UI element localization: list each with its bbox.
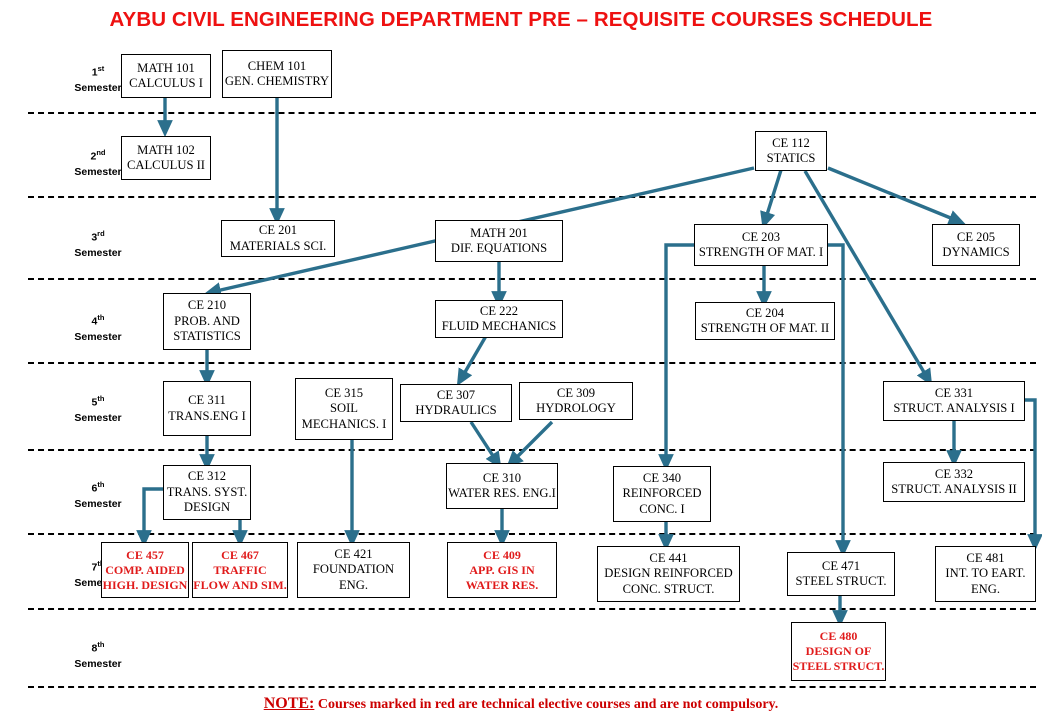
course-code: CE 441 — [649, 551, 687, 567]
course-name-2: CONC. I — [639, 502, 684, 518]
course-code: CE 204 — [746, 306, 784, 322]
course-name: FOUNDATION — [313, 562, 394, 578]
course-name: STATICS — [767, 151, 816, 167]
course-code: MATH 201 — [470, 226, 528, 242]
course-name: STRENGTH OF MAT. I — [699, 245, 823, 261]
course-box-ce-481[interactable]: CE 481 INT. TO EART. ENG. — [935, 546, 1036, 602]
course-name: CALCULUS I — [129, 76, 203, 92]
course-code: CE 205 — [957, 230, 995, 246]
course-code: CE 309 — [557, 386, 595, 402]
course-name: DESIGN REINFORCED — [604, 566, 732, 582]
course-code: CE 331 — [935, 386, 973, 402]
course-code: CE 467 — [221, 548, 259, 563]
course-box-ce-441[interactable]: CE 441 DESIGN REINFORCED CONC. STRUCT. — [597, 546, 740, 602]
course-code: CE 457 — [126, 548, 164, 563]
course-name-2: FLOW AND SIM. — [193, 578, 286, 593]
course-box-ce-467[interactable]: CE 467 TRAFFIC FLOW AND SIM. — [192, 542, 288, 598]
course-box-ce-315[interactable]: CE 315 SOIL MECHANICS. I — [295, 378, 393, 440]
course-name: INT. TO EART. — [945, 566, 1025, 582]
course-code: CE 409 — [483, 548, 521, 563]
course-code: CE 112 — [772, 136, 810, 152]
course-name: HYDRAULICS — [415, 403, 496, 419]
course-code: CE 471 — [822, 559, 860, 575]
course-box-ce-307[interactable]: CE 307 HYDRAULICS — [400, 384, 512, 422]
course-box-ce-222[interactable]: CE 222 FLUID MECHANICS — [435, 300, 563, 338]
course-name: COMP. AIDED — [105, 563, 185, 578]
course-box-ce-340[interactable]: CE 340 REINFORCED CONC. I — [613, 466, 711, 522]
course-box-math-101[interactable]: MATH 101 CALCULUS I — [121, 54, 211, 98]
course-name: HYDROLOGY — [536, 401, 616, 417]
course-name: DYNAMICS — [942, 245, 1009, 261]
course-name: CALCULUS II — [127, 158, 205, 174]
course-code: CE 222 — [480, 304, 518, 320]
course-name: STEEL STRUCT. — [796, 574, 887, 590]
course-name: REINFORCED — [622, 486, 701, 502]
course-name: DIF. EQUATIONS — [451, 241, 547, 257]
course-box-ce-311[interactable]: CE 311 TRANS.ENG I — [163, 381, 251, 436]
course-code: CE 310 — [483, 471, 521, 487]
course-box-ce-331[interactable]: CE 331 STRUCT. ANALYSIS I — [883, 381, 1025, 421]
course-name: GEN. CHEMISTRY — [225, 74, 329, 90]
course-name: TRANS. SYST. — [167, 485, 248, 501]
course-name-2: WATER RES. — [466, 578, 538, 593]
course-name: SOIL — [330, 401, 358, 417]
course-code: CE 481 — [966, 551, 1004, 567]
course-name: APP. GIS IN — [469, 563, 534, 578]
course-box-ce-112[interactable]: CE 112 STATICS — [755, 131, 827, 171]
course-name: STRENGTH OF MAT. II — [701, 321, 830, 337]
course-code: CE 332 — [935, 467, 973, 483]
course-name: TRANS.ENG I — [168, 409, 246, 425]
course-name: STRUCT. ANALYSIS I — [893, 401, 1014, 417]
course-box-ce-421[interactable]: CE 421 FOUNDATION ENG. — [297, 542, 410, 598]
course-name-2: DESIGN — [184, 500, 230, 516]
prerequisite-connectors — [0, 0, 1042, 728]
course-name: MATERIALS SCI. — [230, 239, 327, 255]
course-code: CE 201 — [259, 223, 297, 239]
course-code: CE 311 — [188, 393, 226, 409]
course-code: CE 203 — [742, 230, 780, 246]
course-box-math-201[interactable]: MATH 201 DIF. EQUATIONS — [435, 220, 563, 262]
course-box-math-102[interactable]: MATH 102 CALCULUS II — [121, 136, 211, 180]
course-box-ce-205[interactable]: CE 205 DYNAMICS — [932, 224, 1020, 266]
course-code: CE 210 — [188, 298, 226, 314]
course-name: WATER RES. ENG.I — [448, 486, 556, 502]
course-name: TRAFFIC — [213, 563, 266, 578]
course-box-ce-457[interactable]: CE 457 COMP. AIDED HIGH. DESIGN — [101, 542, 189, 598]
course-box-ce-210[interactable]: CE 210 PROB. AND STATISTICS — [163, 293, 251, 350]
course-name-2: ENG. — [339, 578, 368, 594]
course-name: STRUCT. ANALYSIS II — [891, 482, 1017, 498]
course-box-ce-201[interactable]: CE 201 MATERIALS SCI. — [221, 220, 335, 257]
schedule-diagram: AYBU CIVIL ENGINEERING DEPARTMENT PRE – … — [0, 0, 1042, 728]
course-code: CE 480 — [820, 629, 858, 644]
course-box-ce-203[interactable]: CE 203 STRENGTH OF MAT. I — [694, 224, 828, 266]
course-box-ce-204[interactable]: CE 204 STRENGTH OF MAT. II — [695, 302, 835, 340]
course-box-ce-312[interactable]: CE 312 TRANS. SYST. DESIGN — [163, 465, 251, 520]
course-code: CE 340 — [643, 471, 681, 487]
course-box-ce-332[interactable]: CE 332 STRUCT. ANALYSIS II — [883, 462, 1025, 502]
course-code: CE 312 — [188, 469, 226, 485]
course-box-ce-409[interactable]: CE 409 APP. GIS IN WATER RES. — [447, 542, 557, 598]
course-name-2: MECHANICS. I — [302, 417, 387, 433]
course-name-2: STATISTICS — [173, 329, 241, 345]
course-box-ce-310[interactable]: CE 310 WATER RES. ENG.I — [446, 463, 558, 509]
course-name-2: HIGH. DESIGN — [103, 578, 188, 593]
course-name: DESIGN OF — [806, 644, 872, 659]
course-box-ce-480[interactable]: CE 480 DESIGN OF STEEL STRUCT. — [791, 622, 886, 681]
course-code: CE 307 — [437, 388, 475, 404]
course-code: CHEM 101 — [248, 59, 306, 75]
course-name-2: CONC. STRUCT. — [623, 582, 715, 598]
course-box-ce-471[interactable]: CE 471 STEEL STRUCT. — [787, 552, 895, 596]
course-code: MATH 102 — [137, 143, 195, 159]
course-box-ce-309[interactable]: CE 309 HYDROLOGY — [519, 382, 633, 420]
course-code: CE 315 — [325, 386, 363, 402]
course-code: MATH 101 — [137, 61, 195, 77]
course-name: FLUID MECHANICS — [442, 319, 556, 335]
course-name-2: ENG. — [971, 582, 1000, 598]
course-code: CE 421 — [334, 547, 372, 563]
course-name: PROB. AND — [174, 314, 240, 330]
course-box-chem-101[interactable]: CHEM 101 GEN. CHEMISTRY — [222, 50, 332, 98]
course-name-2: STEEL STRUCT. — [793, 659, 885, 674]
